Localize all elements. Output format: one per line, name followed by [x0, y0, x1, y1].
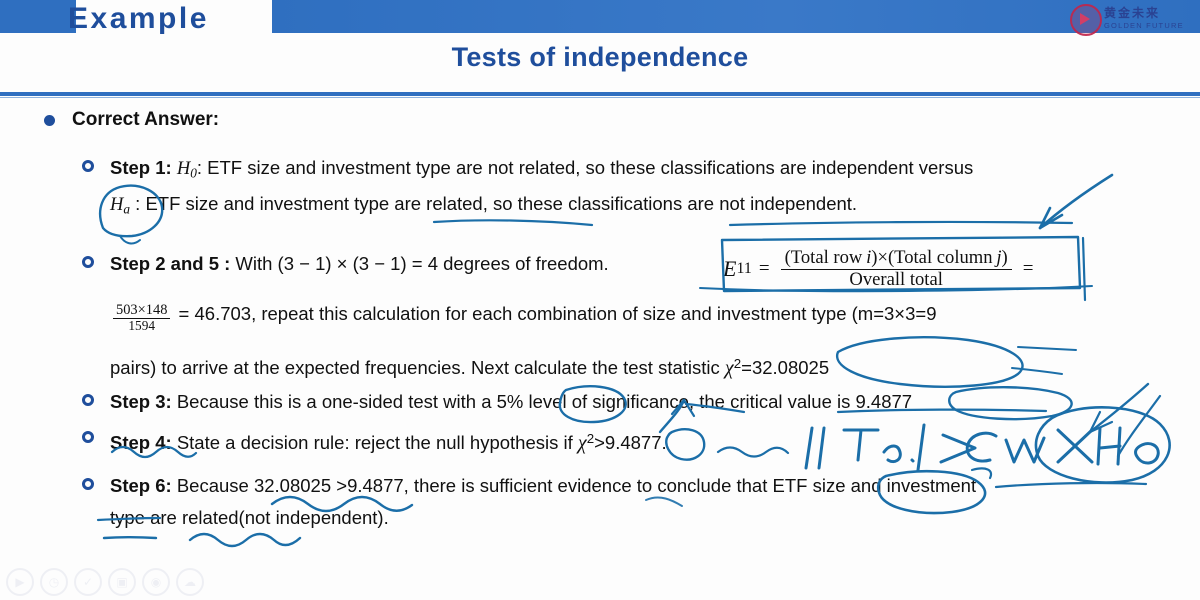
- calc-rest-text: = 46.703, repeat this calculation for ea…: [179, 303, 937, 324]
- chi-square-value: =32.08025: [741, 357, 829, 378]
- record-icon: ◉: [142, 568, 170, 596]
- step-2-5-label: Step 2 and 5 :: [110, 253, 230, 274]
- formula-num-part-a: (Total row: [785, 247, 863, 268]
- formula-denominator: Overall total: [781, 269, 1012, 291]
- step-6-row: Step 6: Because 32.08025 >9.4877, there …: [82, 472, 976, 499]
- step-1-label: Step 1:: [110, 157, 172, 178]
- formula-lhs-symbol: E: [723, 256, 736, 282]
- step-3-text: Step 3: Because this is a one-sided test…: [110, 388, 912, 415]
- step-4-label: Step 4:: [110, 432, 172, 453]
- step-2-5-calculation: 503×1481594 = 46.703, repeat this calcul…: [110, 300, 936, 334]
- slide-canvas: Example Tests of independence 黄金未来 GOLDE…: [0, 0, 1200, 600]
- step-3-body: Because this is a one-sided test with a …: [177, 391, 912, 412]
- step-6-text: Step 6: Because 32.08025 >9.4877, there …: [110, 472, 976, 499]
- formula-equals: =: [759, 258, 770, 280]
- watermark-icon-row: ▶ ◷ ✓ ▣ ◉ ☁: [6, 568, 204, 596]
- clock-icon: ◷: [40, 568, 68, 596]
- formula-lhs-subscript: 11: [736, 260, 751, 278]
- step-2-5-body: With (3 − 1) × (3 − 1) = 4 degrees of fr…: [235, 253, 608, 274]
- step-3-label: Step 3:: [110, 391, 172, 412]
- step-4-row: Step 4: State a decision rule: reject th…: [82, 425, 667, 457]
- header-divider-thin: [0, 97, 1200, 98]
- camera-icon: ▣: [108, 568, 136, 596]
- formula-fraction: (Total row i)×(Total column j) Overall t…: [781, 248, 1012, 291]
- step-2-5-continued: pairs) to arrive at the expected frequen…: [110, 350, 829, 382]
- h0-symbol: H: [177, 159, 190, 179]
- step-6-label: Step 6:: [110, 475, 172, 496]
- brand-logo: 黄金未来 GOLDEN FUTURE: [1070, 2, 1190, 36]
- ha-symbol: H: [110, 195, 123, 215]
- correct-answer-label: Correct Answer:: [72, 109, 219, 131]
- step-6-body-a: Because 32.08025 >9.4877, there is suffi…: [177, 475, 976, 496]
- bullet-ring-icon: [82, 160, 94, 172]
- step-4-text: Step 4: State a decision rule: reject th…: [110, 425, 667, 457]
- step-1-alt-body: : ETF size and investment type are relat…: [135, 193, 857, 214]
- chi-symbol: χ: [725, 357, 734, 379]
- step-2-5-text: Step 2 and 5 : With (3 − 1) × (3 − 1) = …: [110, 250, 609, 277]
- formula-numerator: (Total row i)×(Total column j): [781, 248, 1012, 269]
- step-1-alt-hypothesis: Ha : ETF size and investment type are re…: [110, 190, 857, 222]
- check-icon: ✓: [74, 568, 102, 596]
- page-title: Tests of independence: [0, 42, 1200, 73]
- slide-body: Correct Answer: Step 1: H0: ETF size and…: [0, 100, 1200, 600]
- bullet-dot-icon: [44, 115, 55, 126]
- h0-subscript: 0: [190, 165, 197, 180]
- formula-trailing-equals: =: [1023, 258, 1034, 280]
- logo-chinese-text: 黄金未来: [1104, 4, 1160, 21]
- calc-line2-text: pairs) to arrive at the expected frequen…: [110, 357, 720, 378]
- bullet-ring-icon: [82, 394, 94, 406]
- logo-emblem-icon: [1070, 4, 1102, 36]
- logo-english-text: GOLDEN FUTURE: [1104, 21, 1184, 30]
- correct-answer-bullet: Correct Answer:: [44, 109, 219, 131]
- cloud-icon: ☁: [176, 568, 204, 596]
- example-label: Example: [68, 2, 209, 36]
- step-2-5-row: Step 2 and 5 : With (3 − 1) × (3 − 1) = …: [82, 250, 609, 277]
- calc-fraction: 503×1481594: [113, 302, 170, 334]
- formula-num-part-b: )×(Total column: [871, 247, 992, 268]
- expected-frequency-formula: E11 = (Total row i)×(Total column j) Ove…: [723, 248, 1040, 291]
- bullet-ring-icon: [82, 478, 94, 490]
- bullet-ring-icon: [82, 431, 94, 443]
- step-1-text: Step 1: H0: ETF size and investment type…: [110, 154, 973, 186]
- header-band-right: [272, 0, 1200, 33]
- chi-symbol: χ: [578, 432, 587, 454]
- header-band-left: [0, 0, 76, 33]
- step-4-body-a: State a decision rule: reject the null h…: [177, 432, 573, 453]
- step-4-body-b: >9.4877.: [594, 432, 667, 453]
- bullet-ring-icon: [82, 256, 94, 268]
- calc-numerator: 503×148: [113, 302, 170, 318]
- chi-exponent: 2: [587, 431, 594, 446]
- calc-denominator: 1594: [113, 318, 170, 334]
- play-icon: ▶: [6, 568, 34, 596]
- step-1-row: Step 1: H0: ETF size and investment type…: [82, 154, 973, 186]
- formula-num-part-c: ): [1002, 247, 1008, 268]
- step-3-row: Step 3: Because this is a one-sided test…: [82, 388, 912, 415]
- step-6-continued: type are related(not independent).: [110, 504, 389, 531]
- header-divider: [0, 92, 1200, 96]
- ha-subscript: a: [123, 201, 130, 216]
- step-1-body: : ETF size and investment type are not r…: [197, 157, 973, 178]
